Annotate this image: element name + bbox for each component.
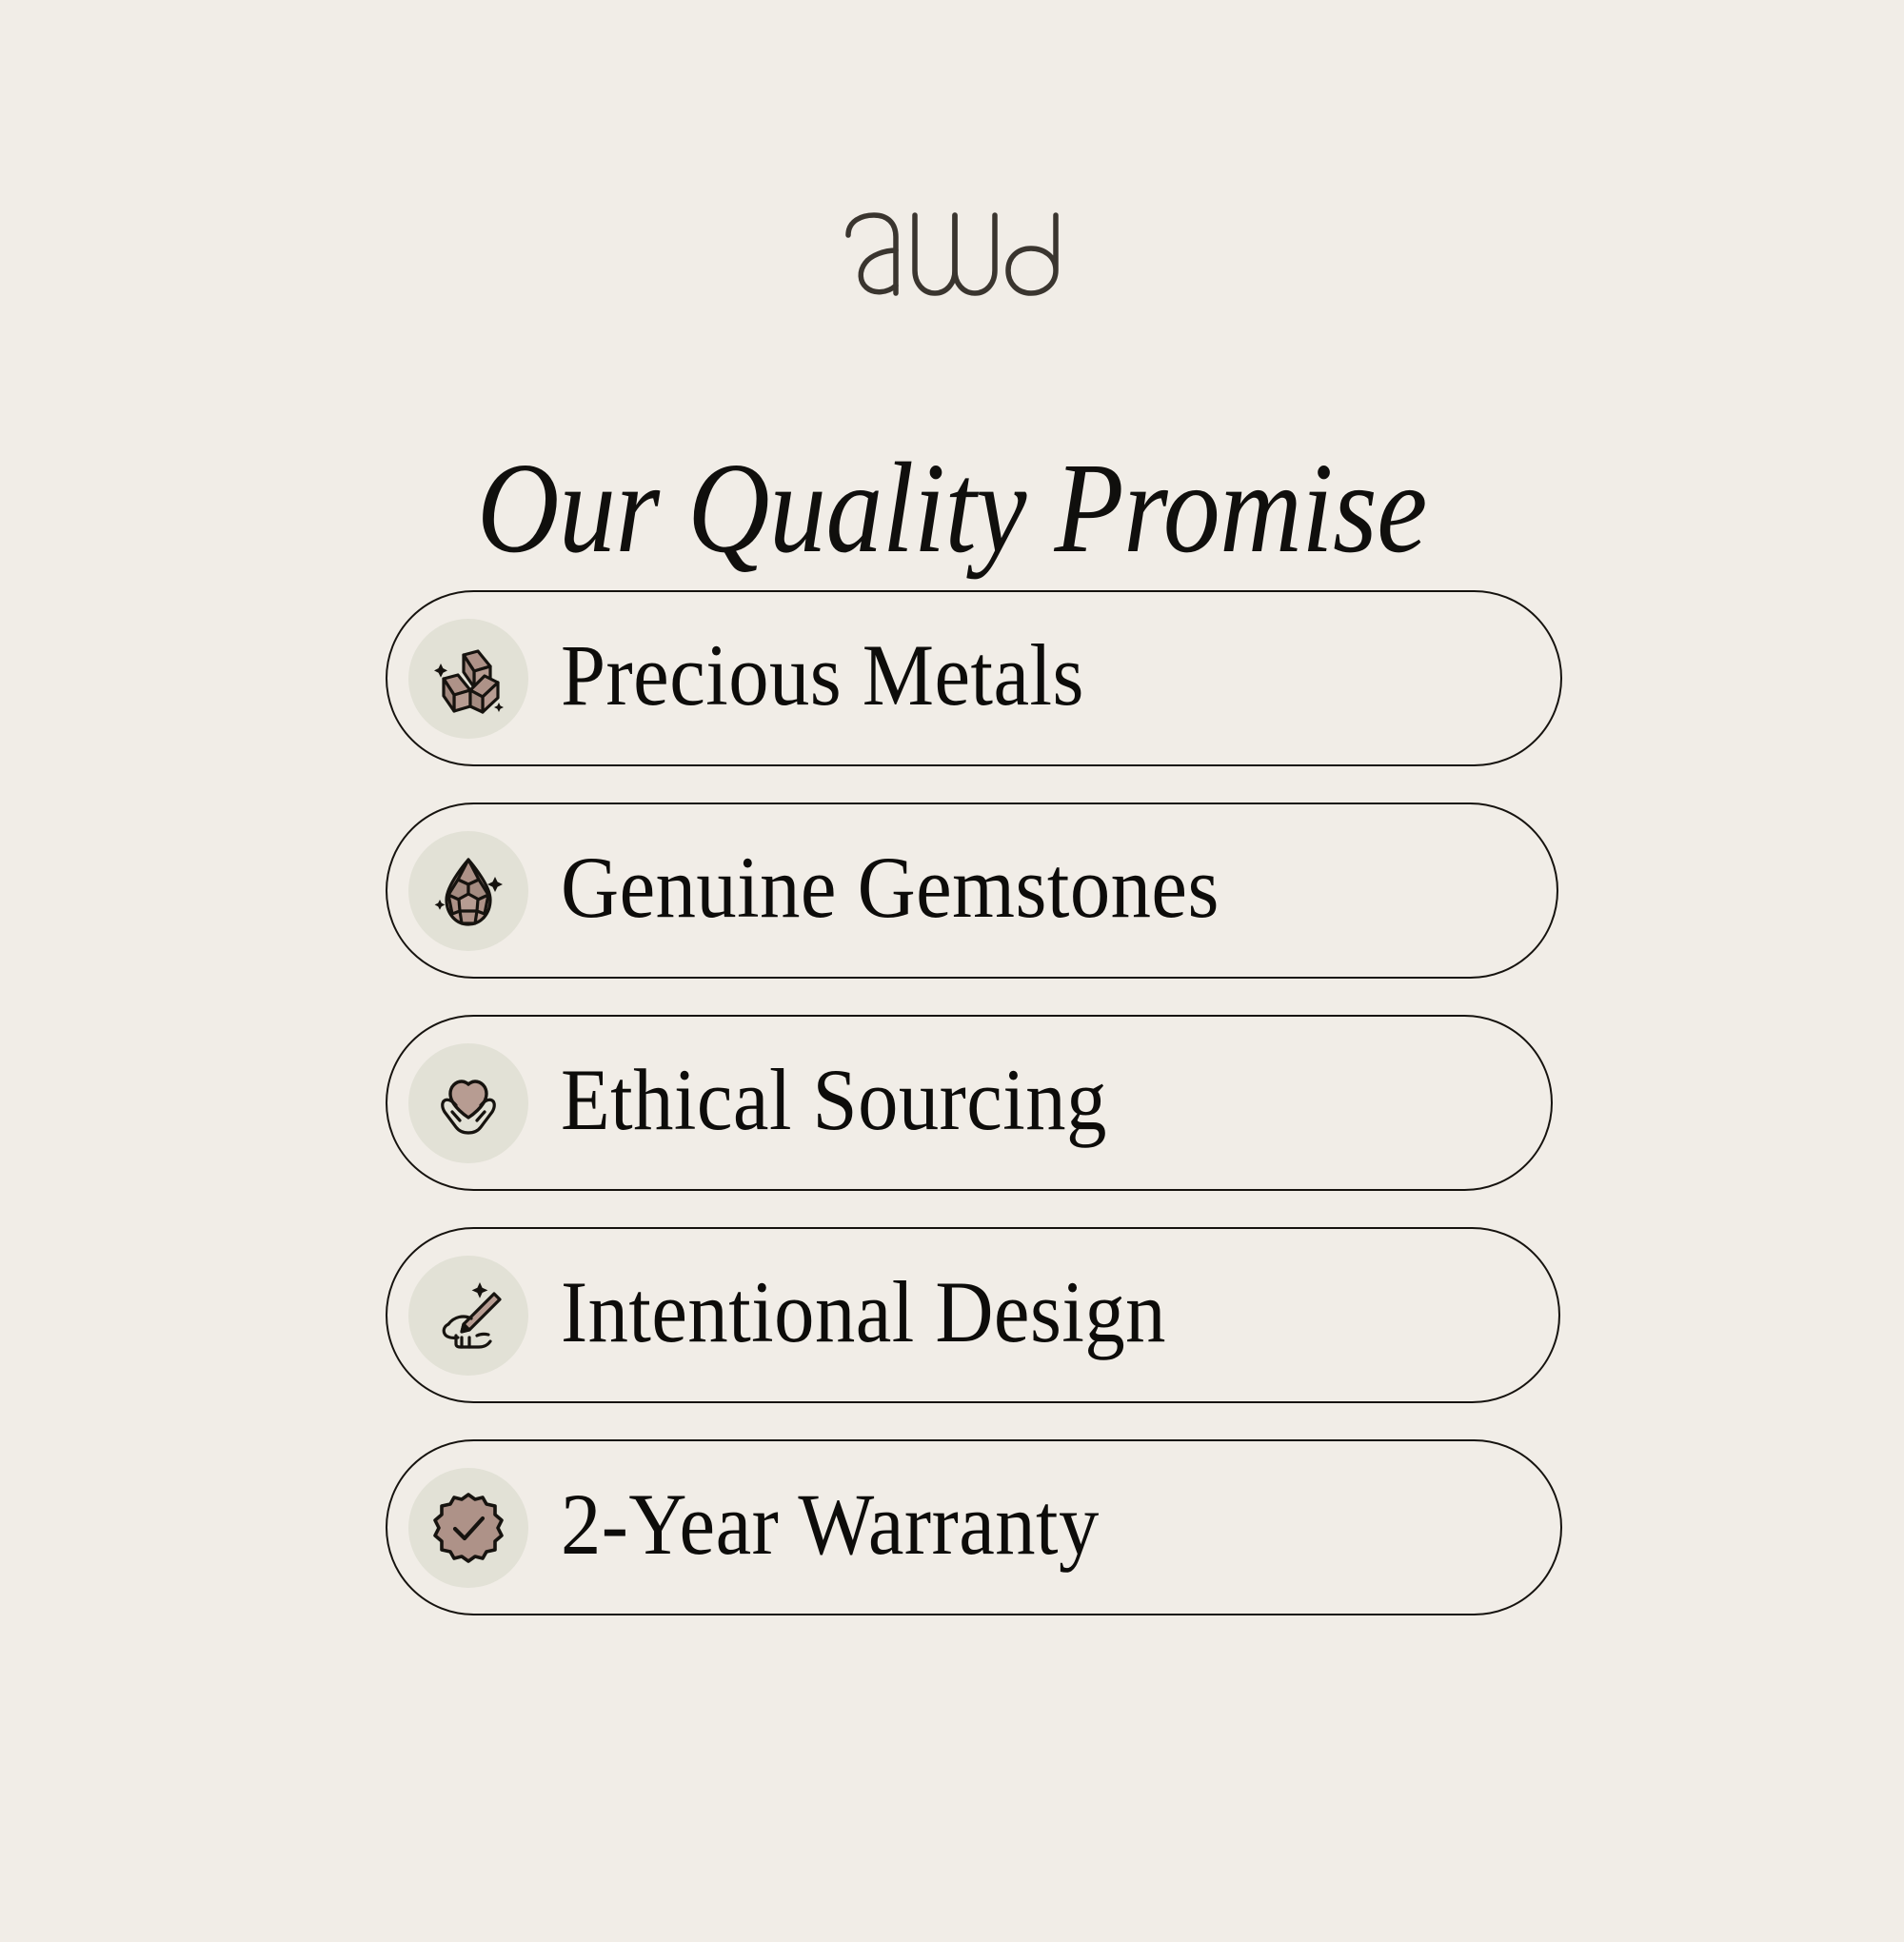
- hand-pencil-icon: [408, 1256, 528, 1376]
- hands-heart-icon: [408, 1043, 528, 1163]
- promise-label: Ethical Sourcing: [561, 1056, 1107, 1151]
- badge-check-icon: [408, 1468, 528, 1588]
- promise-item-precious-metals[interactable]: Precious Metals: [386, 590, 1562, 766]
- promise-item-ethical-sourcing[interactable]: Ethical Sourcing: [386, 1015, 1553, 1191]
- promise-item-genuine-gemstones[interactable]: Genuine Gemstones: [386, 803, 1558, 979]
- promise-label: Intentional Design: [561, 1268, 1166, 1363]
- quality-promise-card: Our Quality Promise: [0, 0, 1904, 1942]
- promise-label: Genuine Gemstones: [561, 843, 1220, 939]
- page-title: Our Quality Promise: [114, 439, 1790, 579]
- promise-item-warranty[interactable]: 2-Year Warranty: [386, 1439, 1562, 1615]
- brand-logo: [0, 211, 1904, 297]
- promise-item-intentional-design[interactable]: Intentional Design: [386, 1227, 1560, 1403]
- awe-wordmark-icon: [843, 211, 1061, 297]
- promise-label: 2-Year Warranty: [561, 1480, 1100, 1575]
- promise-list: Precious Metals: [386, 590, 1566, 1615]
- promise-label: Precious Metals: [561, 631, 1084, 726]
- gold-bars-icon: [408, 619, 528, 739]
- gemstone-icon: [408, 831, 528, 951]
